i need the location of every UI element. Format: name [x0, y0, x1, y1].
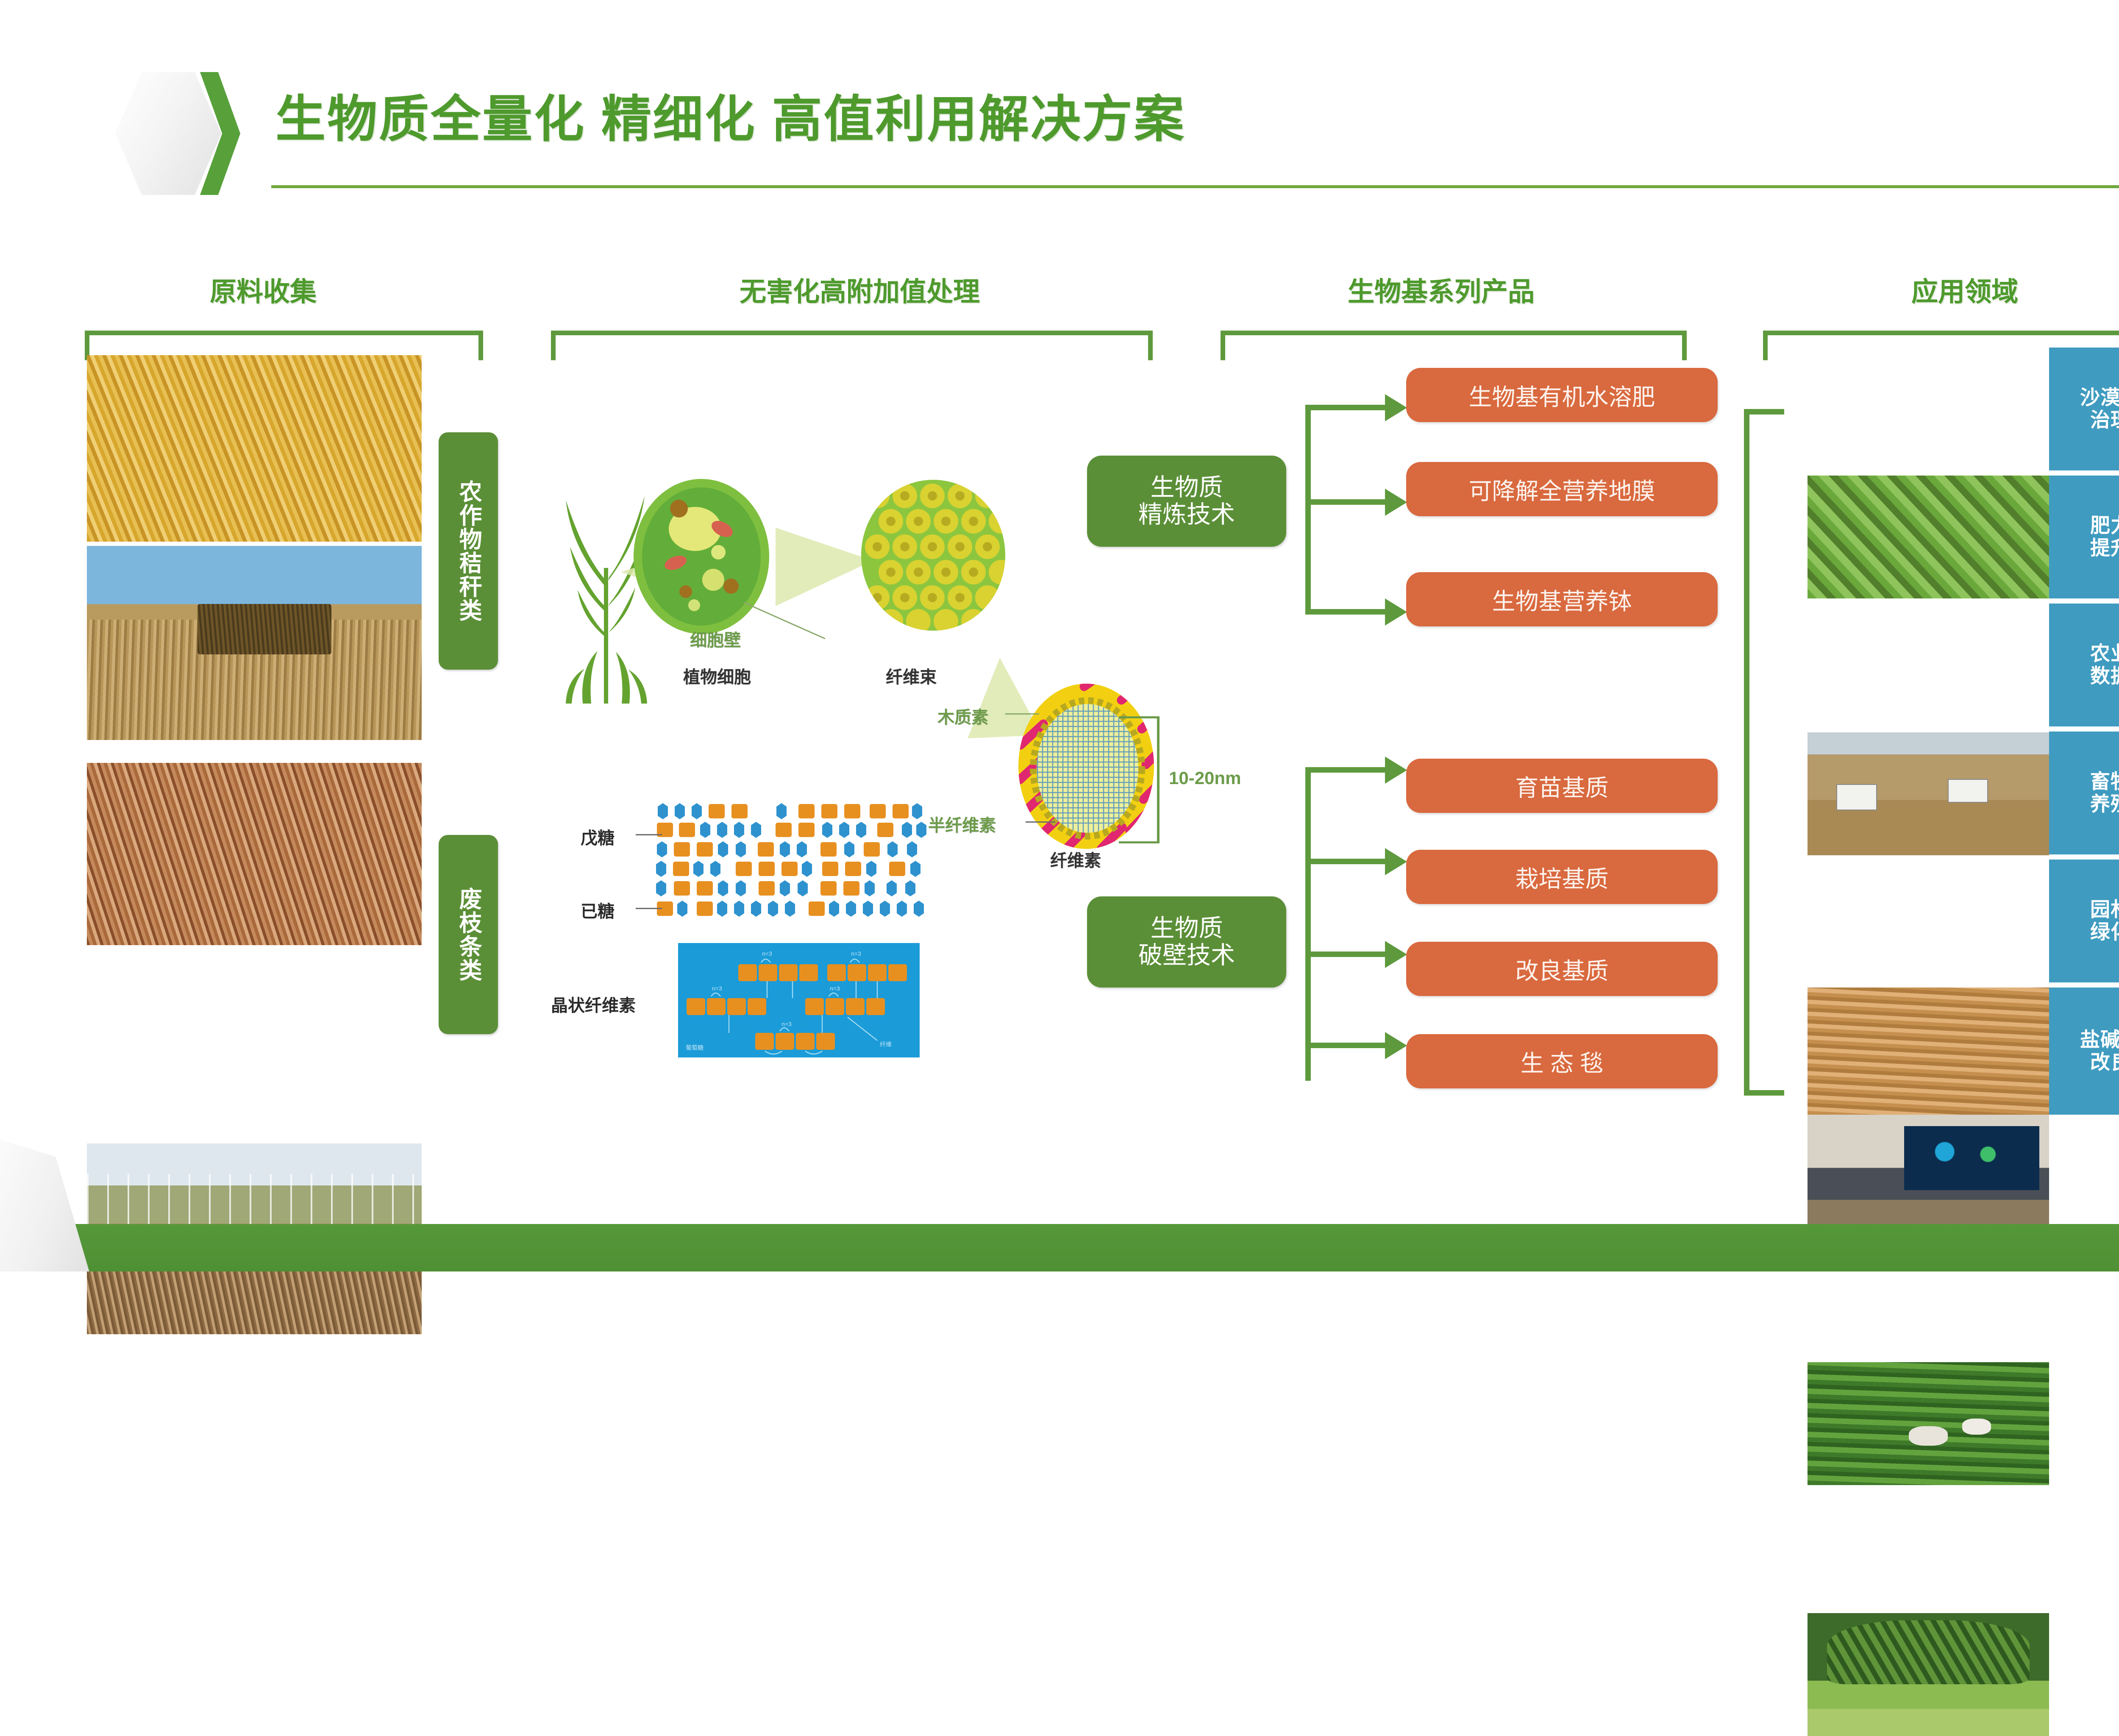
hexose-leader-line	[636, 908, 662, 909]
application-2-line1: 肥力	[2090, 515, 2119, 537]
section-title-collection: 原料收集	[210, 270, 317, 309]
pentose-label: 戊糖	[581, 824, 615, 849]
bracket-processing	[551, 331, 1153, 360]
applications-bracket-bottom	[1744, 1090, 1784, 1096]
crystalline-cellulose-diagram: n=3n=3 n=3n=3 n=3 葡萄糖纤维	[678, 943, 920, 1057]
baled-straw-field-photo	[87, 546, 422, 740]
svg-text:n=3: n=3	[781, 1021, 792, 1027]
cabbage-photo	[1808, 476, 2049, 598]
cell-wall-label: 细胞壁	[690, 626, 741, 651]
application-label-4[interactable]: 畜牧 养殖	[2049, 732, 2119, 854]
footer-bar	[0, 1224, 2119, 1271]
breaking-technology-line2: 破壁技术	[1138, 942, 1235, 969]
svg-text:n=3: n=3	[762, 950, 772, 957]
svg-text:n=3: n=3	[830, 985, 840, 992]
fiber-bundle-diagram	[860, 479, 1007, 632]
product-pill-7[interactable]: 生 态 毯	[1406, 1034, 1718, 1088]
page-title: 生物质全量化 精细化 高值利用解决方案	[275, 78, 1186, 151]
title-underline	[271, 185, 2119, 188]
breaking-arrow-3	[1385, 941, 1407, 968]
section-title-processing: 无害化高附加值处理	[740, 270, 980, 309]
garden-photo	[1808, 1613, 2049, 1736]
cellulose-label: 纤维素	[1050, 847, 1101, 871]
breaking-branch-3	[1305, 951, 1386, 957]
lignin-label: 木质素	[937, 704, 988, 728]
application-5-line2: 绿化	[2090, 921, 2119, 943]
section-title-applications: 应用领域	[1911, 270, 2018, 309]
crop-straw-label: 农作物秸秆类	[439, 432, 498, 670]
cell-wall-breaking-technology-pill[interactable]: 生物质 破壁技术	[1087, 896, 1286, 988]
application-6-line1: 盐碱地	[2080, 1029, 2119, 1051]
dry-branches-photo	[87, 763, 422, 945]
refining-technology-pill[interactable]: 生物质 精炼技术	[1087, 456, 1286, 547]
breaking-branch-1	[1305, 767, 1386, 773]
svg-text:葡萄糖: 葡萄糖	[686, 1044, 704, 1051]
application-label-2[interactable]: 肥力 提升	[2049, 476, 2119, 598]
lignin-leader-line	[1005, 713, 1039, 715]
svg-text:纤维: 纤维	[880, 1041, 892, 1048]
breaking-branch-2	[1305, 859, 1386, 864]
cell-wall-leader-line	[743, 602, 825, 639]
product-pill-1[interactable]: 生物基有机水溶肥	[1406, 368, 1718, 422]
application-4-line2: 养殖	[2090, 793, 2119, 815]
refining-technology-line1: 生物质	[1138, 474, 1235, 501]
svg-text:n=3: n=3	[851, 950, 861, 957]
refining-technology-line2: 精炼技术	[1138, 501, 1235, 529]
hexagon-shape-icon	[115, 72, 221, 195]
fiber-bundle-label: 纤维束	[886, 663, 937, 688]
plant-cell-diagram	[631, 478, 771, 635]
breaking-arrow-2	[1385, 848, 1407, 875]
waste-branch-label: 废枝条类	[439, 835, 498, 1034]
application-5-line1: 园林	[2090, 899, 2119, 921]
refining-branch-1	[1305, 405, 1386, 410]
product-pill-4[interactable]: 育苗基质	[1406, 759, 1718, 813]
svg-text:n=3: n=3	[712, 985, 722, 992]
product-pill-3[interactable]: 生物基营养钵	[1406, 572, 1718, 626]
applications-bracket-top	[1744, 409, 1784, 415]
hexagon-chevron-icon	[115, 72, 242, 195]
application-4-line1: 畜牧	[2090, 771, 2119, 793]
plant-cell-label: 植物细胞	[683, 663, 751, 688]
application-6-line2: 改良	[2080, 1051, 2119, 1074]
section-title-products: 生物基系列产品	[1348, 270, 1535, 309]
hexose-label: 已糖	[581, 898, 615, 922]
breaking-bracket-vertical	[1305, 767, 1311, 1081]
applications-bracket-vertical	[1744, 409, 1749, 1096]
application-1-line2: 治理	[2080, 409, 2119, 431]
breaking-branch-4	[1305, 1043, 1386, 1048]
application-label-6[interactable]: 盐碱地 改良	[2049, 988, 2119, 1115]
hemicellulose-leader-line	[1026, 821, 1055, 823]
refining-branch-3	[1305, 609, 1386, 615]
application-2-line2: 提升	[2090, 537, 2119, 559]
hemicellulose-label: 半纤维素	[928, 812, 996, 836]
refining-arrow-3	[1385, 598, 1407, 626]
refining-arrow-2	[1385, 489, 1407, 516]
application-label-5[interactable]: 园林 绿化	[2049, 860, 2119, 982]
breaking-arrow-4	[1385, 1032, 1407, 1059]
bracket-products	[1221, 331, 1687, 360]
breaking-arrow-1	[1385, 757, 1407, 784]
corn-straw-field-photo	[87, 355, 422, 542]
product-pill-5[interactable]: 栽培基质	[1406, 850, 1718, 904]
dimension-bar	[1157, 716, 1160, 843]
sugar-chain-diagram	[653, 803, 932, 930]
saline-land-photo	[1808, 988, 2049, 1115]
crystalline-cellulose-label: 晶状纤维素	[551, 992, 636, 1016]
grazing-photo	[1808, 1362, 2049, 1485]
breaking-technology-line1: 生物质	[1138, 915, 1235, 942]
slide-canvas: 生物质全量化 精细化 高值利用解决方案 原料收集 无害化高附加值处理 生物基系列…	[0, 0, 2119, 1271]
dimension-tick-top	[1119, 716, 1160, 718]
refining-arrow-1	[1385, 394, 1407, 421]
application-3-line1: 农业	[2090, 643, 2119, 665]
product-pill-2[interactable]: 可降解全营养地膜	[1406, 462, 1718, 516]
magnify-cone-2	[776, 528, 873, 606]
data-center-photo	[1808, 1111, 2049, 1234]
product-pill-6[interactable]: 改良基质	[1406, 942, 1718, 996]
dimension-tick-bottom	[1119, 841, 1160, 843]
application-3-line2: 数据	[2090, 665, 2119, 687]
pentose-leader-line	[636, 834, 662, 835]
dimension-label: 10-20nm	[1169, 768, 1241, 788]
refining-branch-2	[1305, 499, 1386, 505]
application-label-1[interactable]: 沙漠化 治理	[2049, 348, 2119, 470]
application-1-line1: 沙漠化	[2080, 387, 2119, 409]
fiber-cross-section-diagram	[1016, 682, 1156, 851]
desert-photo	[1808, 732, 2049, 855]
application-label-3[interactable]: 农业 数据	[2049, 604, 2119, 726]
refining-bracket-vertical	[1305, 405, 1311, 615]
